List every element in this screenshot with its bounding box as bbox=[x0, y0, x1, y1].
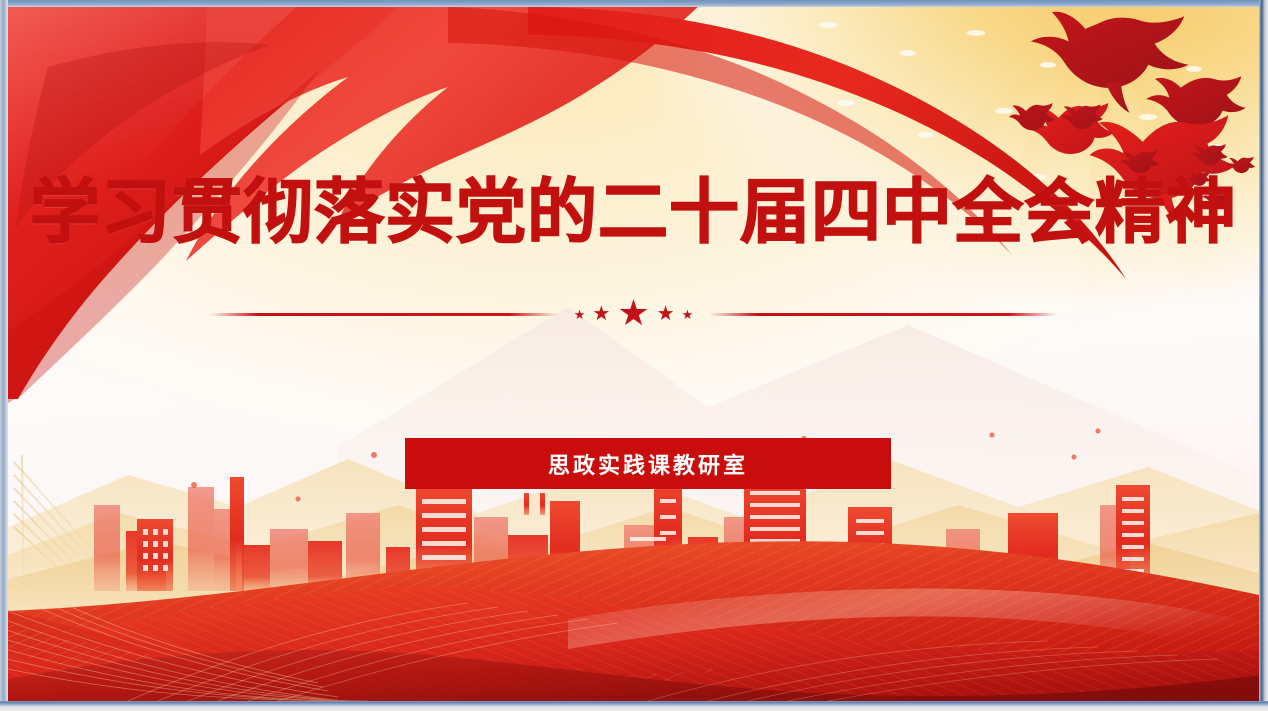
page-title: 学习贯彻落实党的二十届四中全会精神 bbox=[8, 175, 1259, 249]
golden-sunburst bbox=[8, 7, 1259, 701]
city-skyline bbox=[8, 7, 1259, 701]
frame-border-right bbox=[1259, 0, 1268, 711]
light-speckle-dots bbox=[8, 7, 1259, 701]
subtitle-banner: 思政实践课教研室 bbox=[405, 438, 891, 489]
red-silk-waves bbox=[8, 7, 1259, 701]
star-icon-xs-right: ★ bbox=[682, 308, 694, 321]
slide-canvas: 学习贯彻落实党的二十届四中全会精神 ★ ★ ★ ★ ★ 思政实践课教研室 bbox=[8, 7, 1259, 701]
frame-border-bottom bbox=[0, 701, 1268, 711]
subtitle-text: 思政实践课教研室 bbox=[548, 448, 748, 480]
title-block: 学习贯彻落实党的二十届四中全会精神 bbox=[8, 175, 1259, 249]
star-divider: ★ ★ ★ ★ ★ bbox=[8, 297, 1259, 331]
star-icon-xs-left: ★ bbox=[574, 308, 586, 321]
star-icon-sm-right: ★ bbox=[657, 304, 675, 324]
star-icon-sm-left: ★ bbox=[592, 304, 610, 324]
mountain-range bbox=[8, 7, 1259, 701]
divider-line-left bbox=[210, 313, 558, 316]
slide-frame: 学习贯彻落实党的二十届四中全会精神 ★ ★ ★ ★ ★ 思政实践课教研室 bbox=[0, 0, 1268, 711]
frame-border-left bbox=[0, 0, 8, 711]
star-icon-lg-center: ★ bbox=[617, 295, 649, 331]
red-flag-ribbon bbox=[8, 7, 1259, 701]
divider-stars: ★ ★ ★ ★ ★ bbox=[558, 297, 709, 331]
frame-border-top bbox=[0, 0, 1268, 7]
flying-doves bbox=[8, 7, 1259, 701]
divider-line-right bbox=[709, 313, 1057, 316]
